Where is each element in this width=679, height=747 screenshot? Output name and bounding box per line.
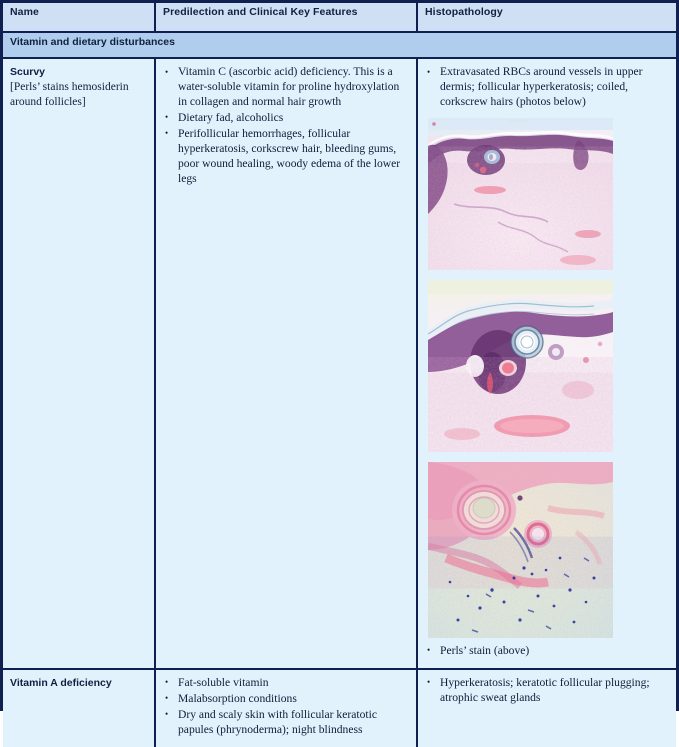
entity-title: Vitamin A deficiency [10, 676, 147, 690]
histopathology-bullet-list: Extravasated RBCs around vessels in uppe… [425, 65, 669, 110]
perls-stain-svg [428, 462, 613, 638]
vitamin-deficiency-table: Name Predilection and Clinical Key Featu… [3, 3, 676, 747]
list-item: Dry and scaly skin with follicular kerat… [163, 708, 409, 738]
table-row-scurvy: Scurvy [Perls’ stains hemosiderin around… [3, 58, 676, 669]
scurvy-histology-follicle-image [428, 280, 613, 452]
table-header-row: Name Predilection and Clinical Key Featu… [3, 3, 676, 32]
list-item: Dietary fad, alcoholics [163, 111, 409, 126]
list-item: Perls’ stain (above) [425, 644, 669, 659]
list-item: Vitamin C (ascorbic acid) deficiency. Th… [163, 65, 409, 110]
histology-caption-list: Perls’ stain (above) [425, 644, 669, 659]
histology-low-power-svg [428, 118, 613, 270]
scurvy-histology-low-power-image [428, 118, 613, 270]
column-header-predilection: Predilection and Clinical Key Features [155, 3, 417, 32]
section-band-label: Vitamin and dietary disturbances [3, 32, 676, 58]
column-header-name: Name [3, 3, 155, 32]
table-row-vitamin-a-deficiency: Vitamin A deficiency Fat-soluble vitamin… [3, 669, 676, 747]
histopathology-bullet-list: Hyperkeratosis; keratotic follicular plu… [425, 676, 669, 706]
entity-title: Scurvy [10, 65, 147, 79]
cell-name-scurvy: Scurvy [Perls’ stains hemosiderin around… [3, 58, 155, 669]
entity-note: [Perls’ stains hemosiderin around follic… [10, 80, 147, 109]
cell-name-vitamin-a: Vitamin A deficiency [3, 669, 155, 747]
cell-histopathology-vitamin-a: Hyperkeratosis; keratotic follicular plu… [417, 669, 676, 747]
list-item: Fat-soluble vitamin [163, 676, 409, 691]
list-item: Malabsorption conditions [163, 692, 409, 707]
dermal-vessel [474, 186, 506, 194]
predilection-bullet-list: Vitamin C (ascorbic acid) deficiency. Th… [163, 65, 409, 187]
predilection-bullet-list: Fat-soluble vitamin Malabsorption condit… [163, 676, 409, 738]
cell-predilection-vitamin-a: Fat-soluble vitamin Malabsorption condit… [155, 669, 417, 747]
section-band-row: Vitamin and dietary disturbances [3, 32, 676, 58]
cell-histopathology-scurvy: Extravasated RBCs around vessels in uppe… [417, 58, 676, 669]
list-item: Hyperkeratosis; keratotic follicular plu… [425, 676, 669, 706]
histology-follicle-svg [428, 280, 613, 452]
corkscrew-hair [511, 326, 543, 358]
cell-predilection-scurvy: Vitamin C (ascorbic acid) deficiency. Th… [155, 58, 417, 669]
list-item: Perifollicular hemorrhages, follicular h… [163, 127, 409, 187]
list-item: Extravasated RBCs around vessels in uppe… [425, 65, 669, 110]
scurvy-perls-stain-image [428, 462, 613, 638]
reference-table: Name Predilection and Clinical Key Featu… [0, 0, 679, 711]
histology-image-stack [425, 118, 669, 638]
column-header-histopathology: Histopathology [417, 3, 676, 32]
